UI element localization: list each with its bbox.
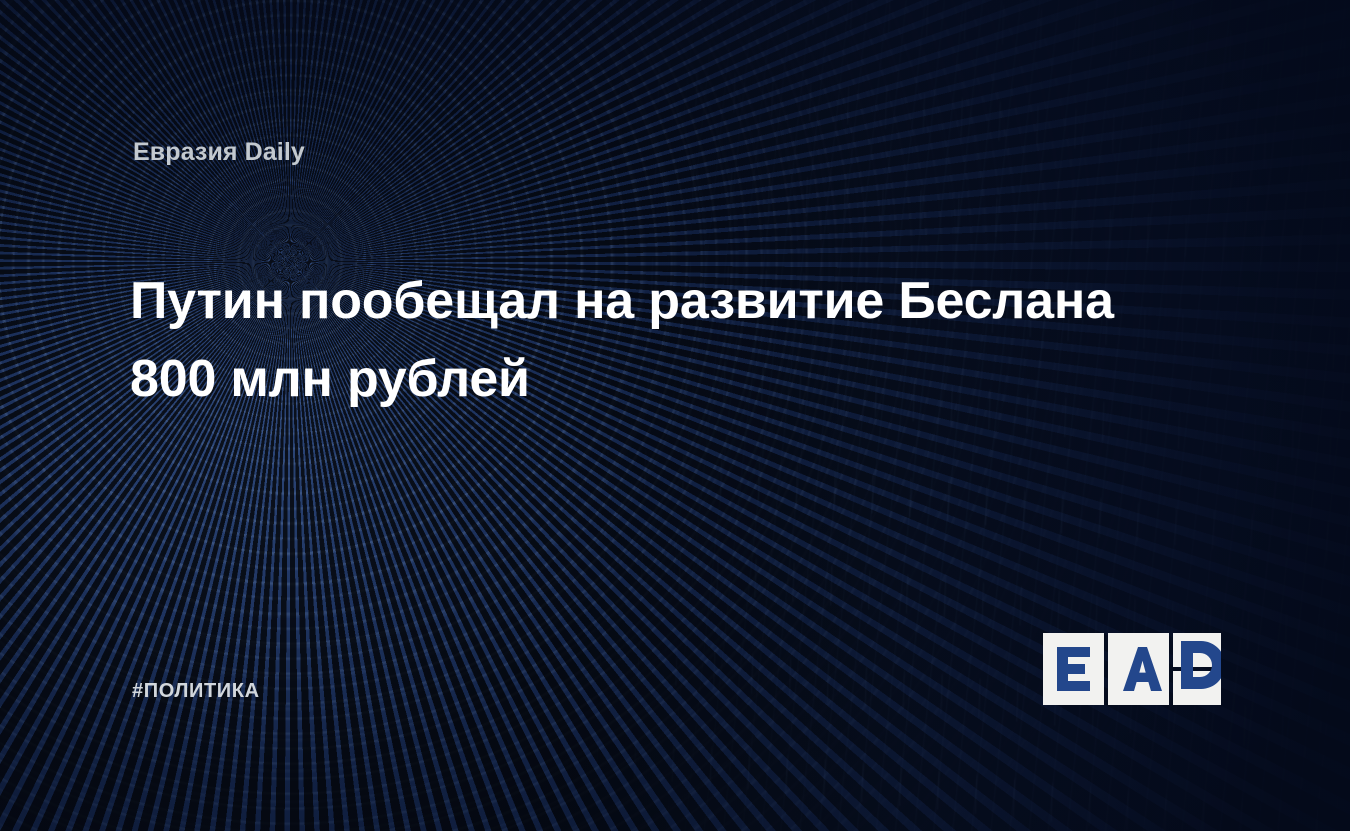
headline-line-2: 800 млн рублей (130, 340, 1190, 418)
news-card: Евразия Daily Путин пообещал на развитие… (0, 0, 1350, 831)
brand-label: Евразия Daily (133, 138, 305, 167)
eadaily-logo[interactable] (1043, 633, 1221, 705)
card-content: Евразия Daily Путин пообещал на развитие… (0, 0, 1350, 831)
category-tag[interactable]: #ПОЛИТИКА (132, 680, 260, 703)
headline-line-1: Путин пообещал на развитие Беслана (130, 262, 1190, 340)
headline: Путин пообещал на развитие Беслана 800 м… (130, 262, 1190, 418)
